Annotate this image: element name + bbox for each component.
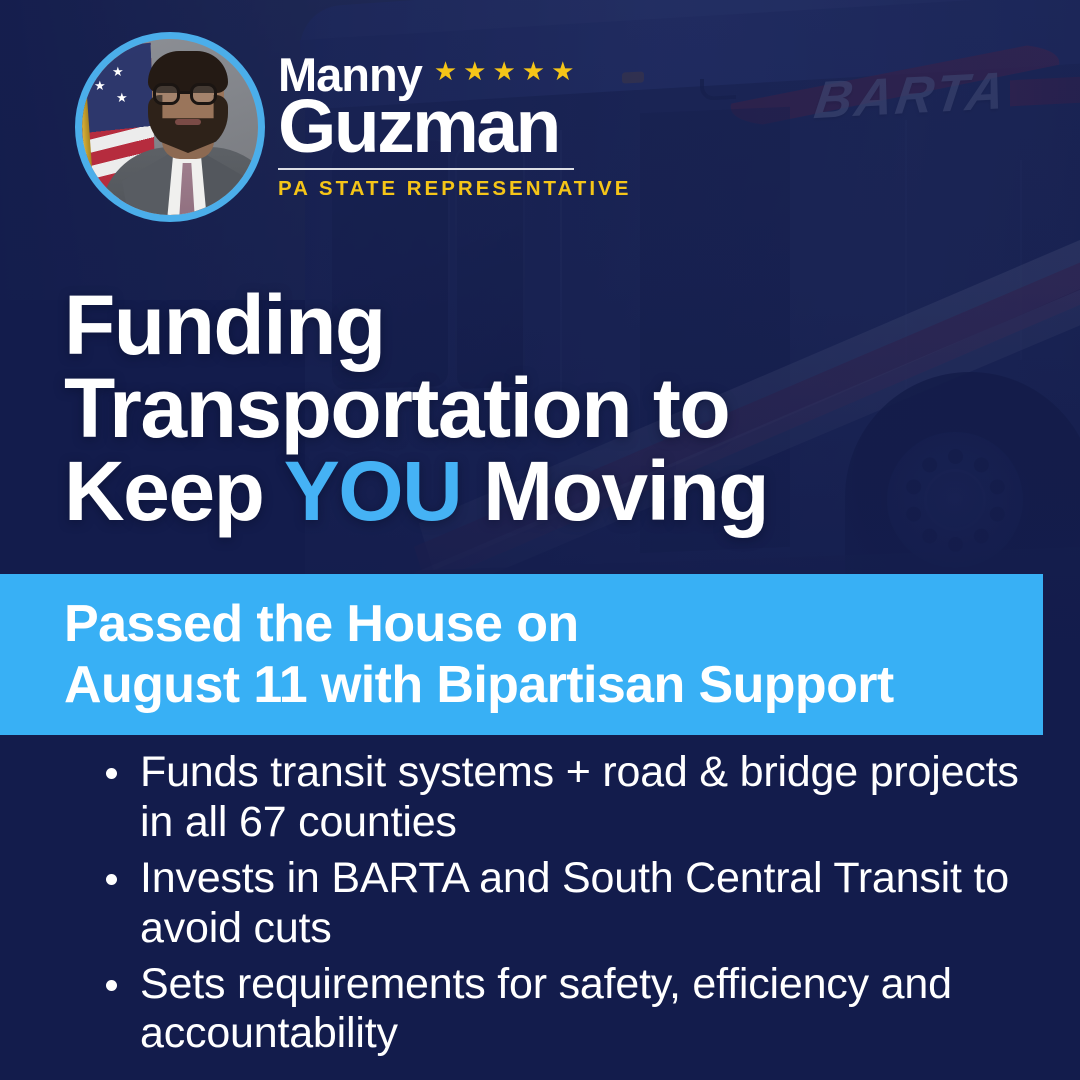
bullet-dot-icon [106, 874, 117, 885]
star-icon: ★ [551, 58, 574, 84]
bullet-dot-icon [106, 980, 117, 991]
eyeglasses-icon [190, 83, 217, 105]
eyeglasses-icon [153, 83, 180, 105]
headline-line-3-before: Keep [64, 444, 284, 538]
list-item-label: Funds transit systems + road & bridge pr… [140, 748, 1019, 846]
poster-canvas: BARTA [0, 0, 1080, 1080]
star-icon: ★ [522, 58, 545, 84]
portrait-mouth [175, 119, 201, 125]
star-icon: ★ [492, 58, 515, 84]
banner-line-2: August 11 with Bipartisan Support [0, 655, 1043, 715]
page-title: Funding Transportation to Keep YOU Movin… [64, 284, 944, 533]
last-name-text: Guzman [278, 93, 598, 159]
headline-line-3-after: Moving [461, 444, 768, 538]
headline-line-1: Funding [64, 284, 944, 367]
list-item: Funds transit systems + road & bridge pr… [92, 748, 1042, 848]
benefits-list: Funds transit systems + road & bridge pr… [92, 748, 1042, 1065]
list-item: Sets requirements for safety, efficiency… [92, 960, 1042, 1060]
star-icon: ★ [463, 58, 486, 84]
list-item: Invests in BARTA and South Central Trans… [92, 854, 1042, 954]
headline-line-3: Keep YOU Moving [64, 450, 944, 533]
star-icon: ★ [434, 58, 457, 84]
eyeglasses-bridge [180, 91, 190, 94]
bullet-dot-icon [106, 768, 117, 779]
headline-line-2: Transportation to [64, 367, 944, 450]
list-item-label: Invests in BARTA and South Central Trans… [140, 854, 1009, 952]
office-title-text: PA STATE REPRESENTATIVE [278, 177, 598, 201]
avatar: ★ ★ ★ ★ [75, 32, 265, 222]
wordmark-divider [278, 168, 574, 170]
avatar-portrait-image: ★ ★ ★ ★ [82, 39, 258, 215]
brand-header: ★ ★ ★ ★ Manny [0, 0, 1080, 250]
banner-line-1: Passed the House on [0, 594, 1043, 654]
headline-accent-word: YOU [284, 444, 462, 538]
status-banner: Passed the House on August 11 with Bipar… [0, 574, 1043, 735]
list-item-label: Sets requirements for safety, efficiency… [140, 960, 952, 1058]
brand-wordmark: Manny ★ ★ ★ ★ ★ Guzman PA STATE REPRESEN… [278, 52, 598, 201]
